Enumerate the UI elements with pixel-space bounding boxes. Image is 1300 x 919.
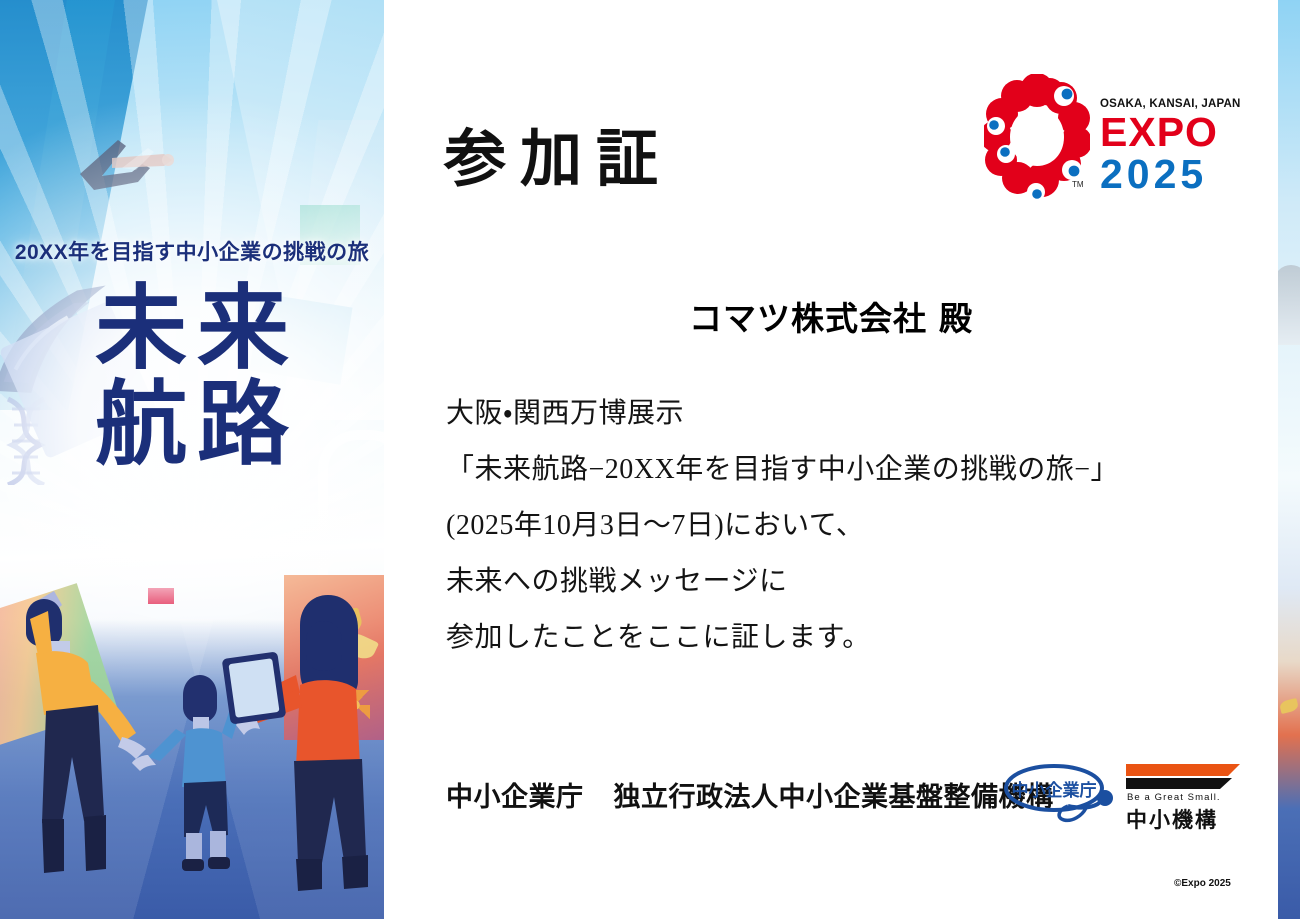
body-line-5: 参加したことをここに証します。 [446, 624, 1216, 652]
smrj-name: 中小機構 [1126, 804, 1218, 834]
poster-title-line-1: 未来 [0, 285, 384, 373]
body-line-3: (2025年10月3日〜7日)において、 [446, 512, 1216, 540]
family-illustration [0, 589, 384, 919]
edge-dome-shape [1278, 265, 1300, 345]
poster-main-title: 未来 航路 [0, 285, 384, 470]
body-line-2: 「未来航路−20XX年を目指す中小企業の挑戦の旅−」 [446, 456, 1216, 484]
copyright-notice: ©Expo 2025 [1174, 878, 1231, 889]
poster-tagline: 20XX年を目指す中小企業の挑戦の旅 [0, 236, 384, 266]
figure-adult-right [222, 595, 368, 891]
trademark-mark: TM [1072, 180, 1084, 189]
smrj-logo: Be a Great Small. 中小機構 [1124, 762, 1248, 832]
smrj-tagline: Be a Great Small. [1127, 792, 1221, 803]
event-poster-image: 20XX年を目指す中小企業の挑戦の旅 未来 航路 [0, 0, 384, 919]
poster-title-line-2: 航路 [0, 381, 384, 469]
certificate-content: 参加証 [384, 0, 1278, 919]
certificate-body: 大阪・関西万博展示 「未来航路−20XX年を目指す中小企業の挑戦の旅−」 (20… [446, 400, 1216, 652]
issuer-smrj: 独立行政法人中小企業基盤整備機構 [614, 782, 1054, 812]
recipient-honorific: 殿 [939, 300, 973, 337]
body-line-1: 大阪・関西万博展示 [446, 400, 1216, 428]
issuer-sme-agency: 中小企業庁 [446, 782, 584, 812]
recipient-name: コマツ株式会社 [689, 300, 927, 337]
sme-agency-label: 中小企業庁 [1012, 780, 1097, 800]
smrj-bars-icon [1124, 762, 1248, 790]
figure-adult-left [26, 591, 146, 873]
issuer-line: 中小企業庁独立行政法人中小企業基盤整備機構 [446, 775, 1054, 814]
expo-year: 2025 [1100, 154, 1246, 196]
poster-edge-strip [1278, 0, 1300, 919]
sme-agency-logo: 中小企業庁 [1002, 760, 1118, 828]
certificate-page: 20XX年を目指す中小企業の挑戦の旅 未来 航路 参加証 [0, 0, 1300, 919]
expo-2025-logo: TM OSAKA, KANSAI, JAPAN EXPO 2025 [984, 72, 1246, 207]
body-line-4: 未来への挑戦メッセージに [446, 568, 1216, 596]
expo-logo-text: OSAKA, KANSAI, JAPAN EXPO 2025 [1100, 98, 1246, 196]
edge-leaf-icon [1279, 698, 1299, 714]
page-title: 参加証 [444, 108, 672, 198]
recipient-line: コマツ株式会社殿 [384, 292, 1278, 340]
expo-word: EXPO [1100, 112, 1246, 154]
